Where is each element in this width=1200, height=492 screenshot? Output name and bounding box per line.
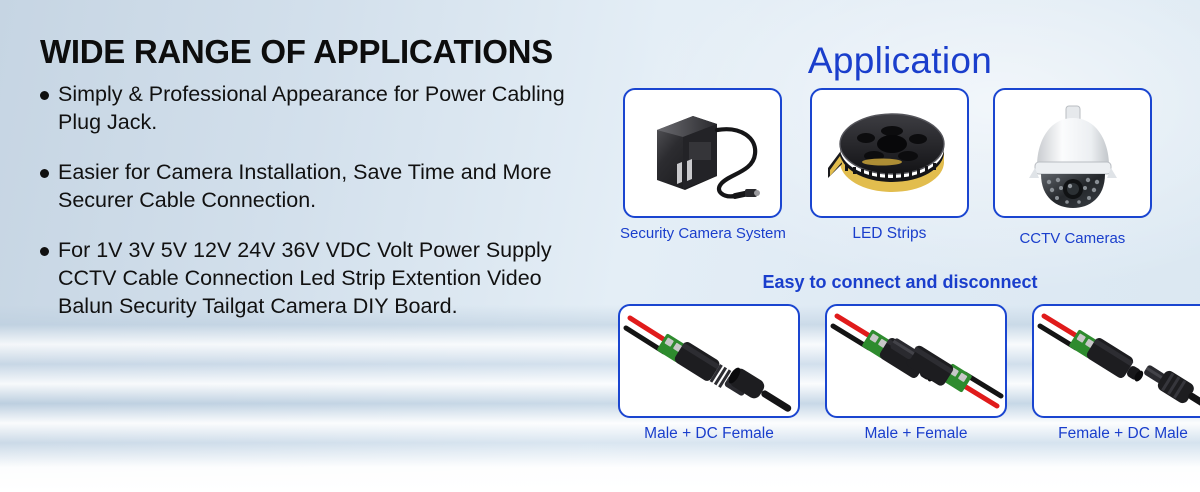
power-adapter-icon [625, 90, 780, 216]
caption: Security Camera System [620, 225, 786, 242]
bullet-text: Simply & Professional Appearance for Pow… [58, 80, 570, 136]
product-image-box [1032, 304, 1200, 418]
product-image-box [993, 88, 1152, 218]
connector-image-row: Male + DC Female [618, 304, 1200, 443]
ptz-dome-camera-icon [995, 90, 1150, 216]
bullet-dot-icon [40, 91, 49, 100]
bullet-text: Easier for Camera Installation, Save Tim… [58, 158, 570, 214]
application-card-cctv-cameras[interactable]: CCTV Cameras [993, 88, 1152, 247]
list-item: Simply & Professional Appearance for Pow… [40, 80, 570, 136]
connector-card-male-female[interactable]: Male + Female [825, 304, 1007, 443]
applications-banner: WIDE RANGE OF APPLICATIONS Simply & Prof… [0, 0, 1200, 492]
application-image-row: Security Camera System [620, 88, 1152, 247]
dc-connector-male-female-pair-icon [827, 306, 1005, 416]
list-item: For 1V 3V 5V 12V 24V 36V VDC Volt Power … [40, 236, 570, 320]
dc-connector-male-female-icon [620, 306, 798, 416]
right-application-column: Application [600, 0, 1200, 492]
caption: Male + DC Female [644, 425, 774, 443]
list-item: Easier for Camera Installation, Save Tim… [40, 158, 570, 214]
application-card-led-strips[interactable]: LED Strips [810, 88, 969, 247]
product-image-box [810, 88, 969, 218]
connect-subtitle: Easy to connect and disconnect [600, 272, 1200, 293]
left-content-column: WIDE RANGE OF APPLICATIONS Simply & Prof… [0, 0, 600, 492]
bullet-text: For 1V 3V 5V 12V 24V 36V VDC Volt Power … [58, 236, 570, 320]
page-title: WIDE RANGE OF APPLICATIONS [40, 33, 553, 71]
caption: Female + DC Male [1058, 425, 1188, 443]
application-card-security-camera-system[interactable]: Security Camera System [620, 88, 786, 247]
bullet-dot-icon [40, 247, 49, 256]
bullet-dot-icon [40, 169, 49, 178]
connector-card-female-dc-male[interactable]: Female + DC Male [1032, 304, 1200, 443]
feature-bullet-list: Simply & Professional Appearance for Pow… [40, 80, 570, 342]
connector-card-male-dc-female[interactable]: Male + DC Female [618, 304, 800, 443]
caption: LED Strips [852, 225, 926, 243]
product-image-box [825, 304, 1007, 418]
caption: Male + Female [865, 425, 968, 443]
caption: CCTV Cameras [1019, 230, 1125, 247]
dc-connector-female-male-icon [1034, 306, 1200, 416]
product-image-box [623, 88, 782, 218]
led-strip-reel-icon [812, 90, 967, 216]
application-heading: Application [600, 40, 1200, 82]
product-image-box [618, 304, 800, 418]
